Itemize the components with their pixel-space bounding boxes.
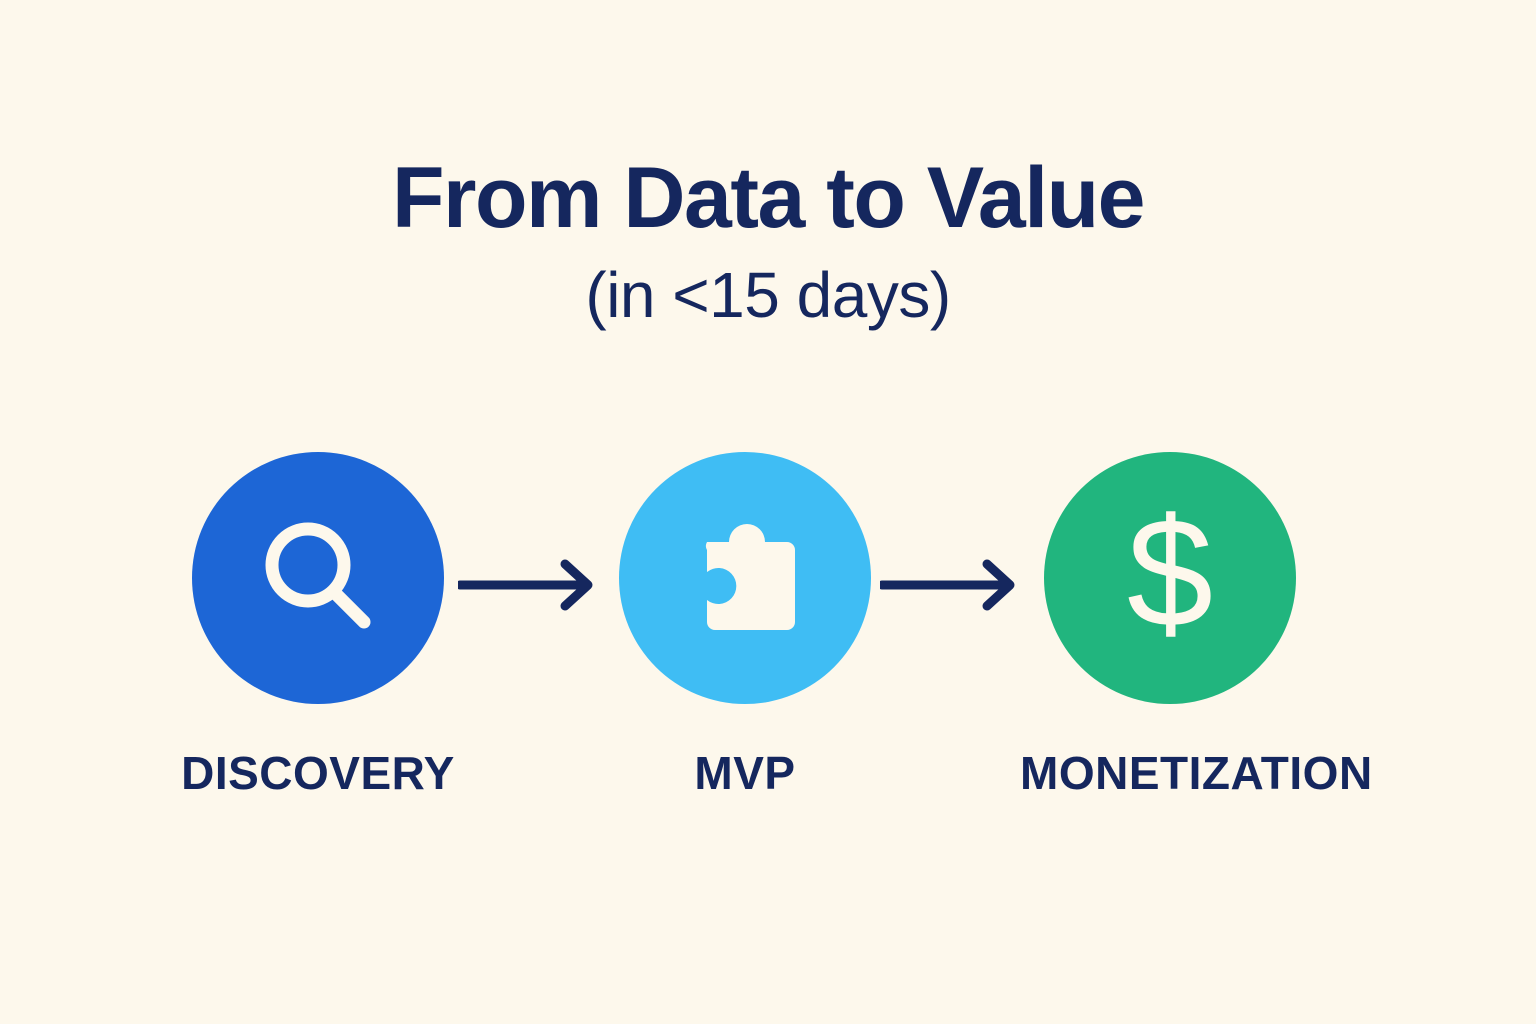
flow-step-mvp[interactable]: MVP bbox=[595, 452, 895, 800]
infographic-canvas: From Data to Value (in <15 days) DISCOVE… bbox=[0, 0, 1536, 1024]
page-subtitle: (in <15 days) bbox=[0, 255, 1536, 335]
flow-step-label-monetization: MONETIZATION bbox=[1020, 746, 1320, 800]
flow-step-discovery[interactable]: DISCOVERY bbox=[168, 452, 468, 800]
mvp-circle bbox=[619, 452, 871, 704]
dollar-sign-icon: $ bbox=[1100, 503, 1240, 653]
process-flow: DISCOVERY MVP bbox=[0, 452, 1536, 812]
monetization-circle: $ bbox=[1044, 452, 1296, 704]
arrow-right-icon-1 bbox=[458, 556, 604, 614]
svg-text:$: $ bbox=[1127, 503, 1213, 653]
magnifier-icon bbox=[248, 508, 388, 648]
page-title: From Data to Value bbox=[0, 152, 1536, 245]
flow-step-label-mvp: MVP bbox=[595, 746, 895, 800]
arrow-right-icon-2 bbox=[880, 556, 1026, 614]
heading-block: From Data to Value (in <15 days) bbox=[0, 152, 1536, 335]
discovery-circle bbox=[192, 452, 444, 704]
puzzle-piece-icon bbox=[675, 508, 815, 648]
flow-step-monetization[interactable]: $ MONETIZATION bbox=[1020, 452, 1320, 800]
flow-step-label-discovery: DISCOVERY bbox=[168, 746, 468, 800]
